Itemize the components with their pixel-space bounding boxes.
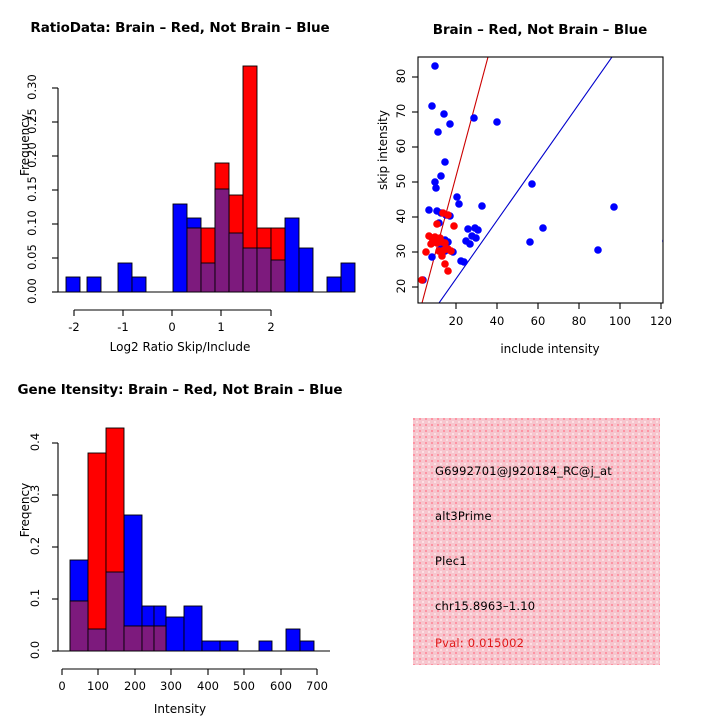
ratio-hist-xtick-1: -1 bbox=[108, 320, 138, 334]
scatter-xtick-2: 60 bbox=[523, 314, 553, 328]
scatter-ytick-3: 50 bbox=[394, 166, 408, 196]
gene-hist-x-axis bbox=[62, 669, 317, 675]
pval-text: Pval: 0.015002 bbox=[435, 636, 524, 650]
ratio-hist-ytick-4: 0.20 bbox=[25, 135, 39, 175]
ratio-hist-xtick-4: 2 bbox=[256, 320, 286, 334]
ratio-hist-ytick-2: 0.10 bbox=[25, 203, 39, 243]
gene-hist-ytick-3: 0.3 bbox=[28, 479, 42, 509]
ratio-hist-y-axis bbox=[52, 88, 58, 292]
ratio-hist-x-axis bbox=[74, 310, 271, 316]
scatter-x-ticks bbox=[456, 303, 661, 309]
scatter-ytick-6: 80 bbox=[394, 61, 408, 91]
ratio-hist-ytick-0: 0.00 bbox=[25, 271, 39, 311]
scatter-plot-area bbox=[360, 0, 720, 360]
gene-hist-xtick-1: 100 bbox=[83, 679, 113, 693]
gene-hist-ytick-1: 0.1 bbox=[28, 583, 42, 613]
gene-hist-xtick-0: 0 bbox=[47, 679, 77, 693]
ratio-hist-plot-area bbox=[0, 0, 360, 360]
scatter-xtick-3: 80 bbox=[564, 314, 594, 328]
ratio-hist-ytick-5: 0.25 bbox=[25, 101, 39, 141]
ratio-hist-ytick-1: 0.05 bbox=[25, 237, 39, 277]
ratio-hist-xtick-0: -2 bbox=[59, 320, 89, 334]
gene-hist-xtick-2: 200 bbox=[120, 679, 150, 693]
gene-hist-xtick-3: 300 bbox=[156, 679, 186, 693]
gene-hist-ytick-2: 0.2 bbox=[28, 531, 42, 561]
panel-gene-intensity-histogram: Gene Itensity: Brain – Red, Not Brain – … bbox=[0, 360, 360, 720]
not-brain-fit-line bbox=[439, 57, 612, 303]
gene-hist-xtick-7: 700 bbox=[302, 679, 332, 693]
scatter-y-ticks bbox=[412, 77, 418, 287]
gene-symbol-text: Plec1 bbox=[435, 554, 467, 568]
ratio-hist-ytick-6: 0.30 bbox=[25, 67, 39, 107]
ratio-hist-ytick-3: 0.15 bbox=[25, 169, 39, 209]
gene-hist-ytick-0: 0.0 bbox=[28, 635, 42, 665]
panel-gene-info: G6992701@J920184_RC@j_at alt3Prime Plec1… bbox=[360, 360, 720, 720]
scatter-ytick-0: 20 bbox=[394, 271, 408, 301]
gene-info-box: G6992701@J920184_RC@j_at alt3Prime Plec1… bbox=[413, 418, 660, 665]
scatter-points-brain bbox=[418, 209, 458, 284]
gene-hist-xtick-4: 400 bbox=[193, 679, 223, 693]
probe-id-text: G6992701@J920184_RC@j_at bbox=[435, 464, 612, 478]
scatter-ytick-4: 60 bbox=[394, 131, 408, 161]
panel-intensity-scatter: Brain – Red, Not Brain – Blue skip inten… bbox=[360, 0, 720, 360]
scatter-ytick-5: 70 bbox=[394, 96, 408, 126]
scatter-ytick-1: 30 bbox=[394, 236, 408, 266]
panel-ratio-histogram: RatioData: Brain – Red, Not Brain – Blue… bbox=[0, 0, 360, 360]
ratio-hist-xtick-2: 0 bbox=[157, 320, 187, 334]
scatter-xtick-4: 100 bbox=[605, 314, 635, 328]
gene-hist-plot-area bbox=[0, 360, 360, 720]
scatter-xtick-5: 120 bbox=[646, 314, 676, 328]
gene-hist-xtick-5: 500 bbox=[229, 679, 259, 693]
event-type-text: alt3Prime bbox=[435, 509, 492, 523]
figure-canvas: RatioData: Brain – Red, Not Brain – Blue… bbox=[0, 0, 720, 720]
gene-hist-ytick-4: 0.4 bbox=[28, 427, 42, 457]
gene-hist-y-axis bbox=[52, 443, 58, 651]
scatter-xtick-0: 20 bbox=[441, 314, 471, 328]
locus-text: chr15.8963–1.10 bbox=[435, 599, 535, 613]
scatter-ytick-2: 40 bbox=[394, 201, 408, 231]
gene-hist-xtick-6: 600 bbox=[266, 679, 296, 693]
ratio-hist-xtick-3: 1 bbox=[206, 320, 236, 334]
scatter-xtick-1: 40 bbox=[482, 314, 512, 328]
